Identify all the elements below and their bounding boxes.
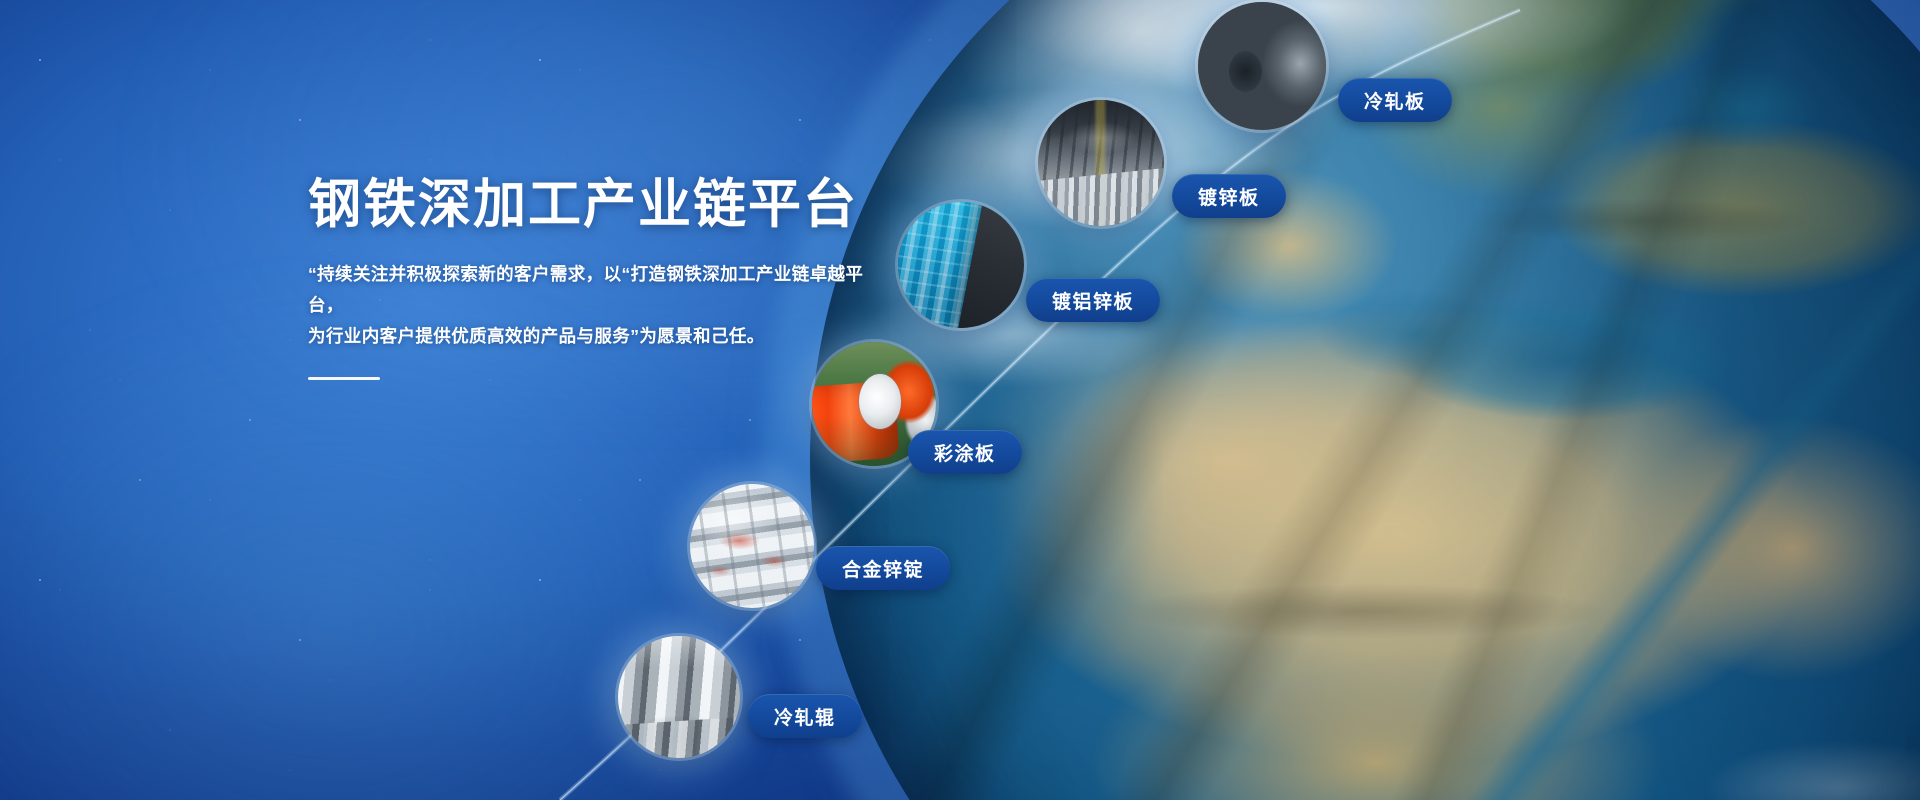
earth-atmosphere-glow (764, 0, 1920, 800)
product-label-cold-rolling-roll[interactable]: 冷轧辊 (748, 694, 862, 738)
hero-banner: 钢铁深加工产业链平台 “持续关注并积极探索新的客户需求，以“打造钢铁深加工产业链… (0, 0, 1920, 800)
product-thumbnail-cold-rolled-plate[interactable] (1198, 2, 1326, 130)
product-label-alloy-zinc-ingot[interactable]: 合金锌锭 (816, 546, 950, 590)
product-label-galvanized-plate[interactable]: 镀锌板 (1172, 174, 1286, 218)
stacked-zinc-ingots-photo (690, 484, 814, 608)
product-label-color-coated-plate[interactable]: 彩涂板 (908, 430, 1022, 474)
subtitle-line-1: “持续关注并积极探索新的客户需求，以“打造钢铁深加工产业链卓越平台， (308, 259, 888, 320)
product-thumbnail-aluzinc-plate[interactable] (898, 202, 1024, 328)
subtitle-text: “持续关注并积极探索新的客户需求，以“打造钢铁深加工产业链卓越平台， 为行业内客… (308, 259, 888, 351)
product-thumbnail-galvanized-plate[interactable] (1038, 100, 1164, 226)
title-divider (308, 377, 380, 380)
product-thumbnail-alloy-zinc-ingot[interactable] (690, 484, 814, 608)
product-label-aluzinc-plate[interactable]: 镀铝锌板 (1026, 278, 1160, 322)
product-connector-arc (0, 0, 1920, 800)
polished-rolling-rolls-photo (618, 636, 740, 758)
steel-coils-photo (1198, 2, 1326, 130)
page-title: 钢铁深加工产业链平台 (308, 175, 888, 235)
product-thumbnail-cold-rolling-roll[interactable] (618, 636, 740, 758)
aluzinc-coated-sheet-photo (898, 202, 1024, 328)
subtitle-line-2: 为行业内客户提供优质高效的产品与服务”为愿景和己任。 (308, 321, 888, 352)
product-label-cold-rolled-plate[interactable]: 冷轧板 (1338, 78, 1452, 122)
starfield-layer-near (0, 0, 1920, 800)
galvanized-coil-warehouse-photo (1038, 100, 1164, 226)
starfield-layer-far (0, 0, 1920, 800)
headline-block: 钢铁深加工产业链平台 “持续关注并积极探索新的客户需求，以“打造钢铁深加工产业链… (308, 175, 888, 380)
